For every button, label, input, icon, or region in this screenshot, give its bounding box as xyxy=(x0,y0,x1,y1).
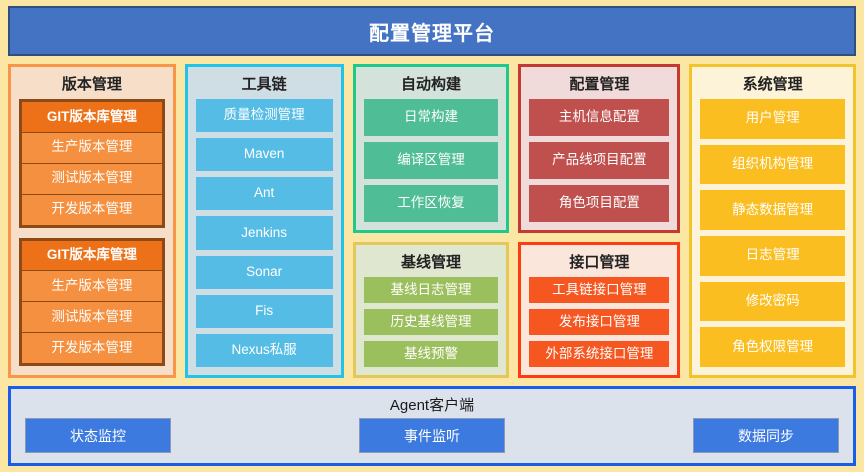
panel-agent-client: Agent客户端 状态监控 事件监听 数据同步 xyxy=(8,386,856,466)
item-nexus-private-server[interactable]: Nexus私服 xyxy=(196,334,333,367)
panel-config-management: 配置管理 主机信息配置 产品线项目配置 角色项目配置 xyxy=(518,64,680,233)
version-group-2: GIT版本库管理 生产版本管理 测试版本管理 开发版本管理 xyxy=(19,238,165,367)
item-git-repo-management-1[interactable]: GIT版本库管理 xyxy=(22,102,162,132)
panel-title-system-management: 系统管理 xyxy=(692,67,853,99)
panel-body-baseline-management: 基线日志管理 历史基线管理 基线预警 xyxy=(356,277,507,375)
item-baseline-log-management[interactable]: 基线日志管理 xyxy=(364,277,499,303)
item-dev-version-management-2[interactable]: 开发版本管理 xyxy=(22,333,162,363)
panel-version-management: 版本管理 GIT版本库管理 生产版本管理 测试版本管理 开发版本管理 GIT版本… xyxy=(8,64,176,378)
page-title: 配置管理平台 xyxy=(8,6,856,56)
item-toolchain-interface-management[interactable]: 工具链接口管理 xyxy=(529,277,669,303)
panel-body-interface-management: 工具链接口管理 发布接口管理 外部系统接口管理 xyxy=(521,277,677,375)
panel-body-system-management: 用户管理 组织机构管理 静态数据管理 日志管理 修改密码 角色权限管理 xyxy=(692,99,853,375)
item-sonar[interactable]: Sonar xyxy=(196,256,333,289)
item-git-repo-management-2[interactable]: GIT版本库管理 xyxy=(22,241,162,271)
panel-body-config-management: 主机信息配置 产品线项目配置 角色项目配置 xyxy=(521,99,677,230)
panel-title-toolchain: 工具链 xyxy=(188,67,341,99)
item-organization-management[interactable]: 组织机构管理 xyxy=(700,145,845,185)
panel-baseline-management: 基线管理 基线日志管理 历史基线管理 基线预警 xyxy=(353,242,510,378)
panel-title-interface-management: 接口管理 xyxy=(521,245,677,277)
item-workspace-recovery[interactable]: 工作区恢复 xyxy=(364,185,499,222)
panel-title-baseline-management: 基线管理 xyxy=(356,245,507,277)
item-dev-version-management-1[interactable]: 开发版本管理 xyxy=(22,195,162,225)
panel-system-management: 系统管理 用户管理 组织机构管理 静态数据管理 日志管理 修改密码 角色权限管理 xyxy=(689,64,856,378)
panel-body-toolchain: 质量检测管理 Maven Ant Jenkins Sonar Fis Nexus… xyxy=(188,99,341,375)
item-maven[interactable]: Maven xyxy=(196,138,333,171)
panel-auto-build: 自动构建 日常构建 编译区管理 工作区恢复 xyxy=(353,64,510,233)
version-group-1: GIT版本库管理 生产版本管理 测试版本管理 开发版本管理 xyxy=(19,99,165,228)
column-config-and-interface: 配置管理 主机信息配置 产品线项目配置 角色项目配置 接口管理 工具链接口管理 … xyxy=(518,64,680,378)
status-monitor-button[interactable]: 状态监控 xyxy=(25,418,171,453)
data-sync-button[interactable]: 数据同步 xyxy=(693,418,839,453)
event-listener-button[interactable]: 事件监听 xyxy=(359,418,505,453)
panel-title-auto-build: 自动构建 xyxy=(356,67,507,99)
item-log-management[interactable]: 日志管理 xyxy=(700,236,845,276)
columns-container: 版本管理 GIT版本库管理 生产版本管理 测试版本管理 开发版本管理 GIT版本… xyxy=(8,64,856,378)
panel-body-version-management: GIT版本库管理 生产版本管理 测试版本管理 开发版本管理 GIT版本库管理 生… xyxy=(11,99,173,375)
panel-body-auto-build: 日常构建 编译区管理 工作区恢复 xyxy=(356,99,507,230)
item-product-line-project-config[interactable]: 产品线项目配置 xyxy=(529,142,669,179)
item-host-info-config[interactable]: 主机信息配置 xyxy=(529,99,669,136)
item-daily-build[interactable]: 日常构建 xyxy=(364,99,499,136)
item-change-password[interactable]: 修改密码 xyxy=(700,282,845,322)
item-jenkins[interactable]: Jenkins xyxy=(196,216,333,249)
panel-interface-management: 接口管理 工具链接口管理 发布接口管理 外部系统接口管理 xyxy=(518,242,680,378)
item-external-system-interface-management[interactable]: 外部系统接口管理 xyxy=(529,341,669,367)
item-role-permission-management[interactable]: 角色权限管理 xyxy=(700,327,845,367)
item-compile-area-management[interactable]: 编译区管理 xyxy=(364,142,499,179)
item-static-data-management[interactable]: 静态数据管理 xyxy=(700,190,845,230)
column-toolchain: 工具链 质量检测管理 Maven Ant Jenkins Sonar Fis N… xyxy=(185,64,344,378)
item-quality-inspection-management[interactable]: 质量检测管理 xyxy=(196,99,333,132)
item-test-version-management-1[interactable]: 测试版本管理 xyxy=(22,164,162,194)
column-version-management: 版本管理 GIT版本库管理 生产版本管理 测试版本管理 开发版本管理 GIT版本… xyxy=(8,64,176,378)
column-build-and-baseline: 自动构建 日常构建 编译区管理 工作区恢复 基线管理 基线日志管理 历史基线管理… xyxy=(353,64,510,378)
panel-title-config-management: 配置管理 xyxy=(521,67,677,99)
item-user-management[interactable]: 用户管理 xyxy=(700,99,845,139)
item-role-project-config[interactable]: 角色项目配置 xyxy=(529,185,669,222)
agent-buttons-container: 状态监控 事件监听 数据同步 xyxy=(11,418,853,463)
item-production-version-management-2[interactable]: 生产版本管理 xyxy=(22,271,162,301)
item-baseline-alert[interactable]: 基线预警 xyxy=(364,341,499,367)
panel-toolchain: 工具链 质量检测管理 Maven Ant Jenkins Sonar Fis N… xyxy=(185,64,344,378)
item-fis[interactable]: Fis xyxy=(196,295,333,328)
item-release-interface-management[interactable]: 发布接口管理 xyxy=(529,309,669,335)
item-ant[interactable]: Ant xyxy=(196,177,333,210)
panel-title-agent-client: Agent客户端 xyxy=(11,389,853,418)
item-historical-baseline-management[interactable]: 历史基线管理 xyxy=(364,309,499,335)
item-production-version-management-1[interactable]: 生产版本管理 xyxy=(22,133,162,163)
item-test-version-management-2[interactable]: 测试版本管理 xyxy=(22,302,162,332)
panel-title-version-management: 版本管理 xyxy=(11,67,173,99)
configuration-management-platform: 配置管理平台 版本管理 GIT版本库管理 生产版本管理 测试版本管理 开发版本管… xyxy=(0,0,864,472)
column-system-management: 系统管理 用户管理 组织机构管理 静态数据管理 日志管理 修改密码 角色权限管理 xyxy=(689,64,856,378)
